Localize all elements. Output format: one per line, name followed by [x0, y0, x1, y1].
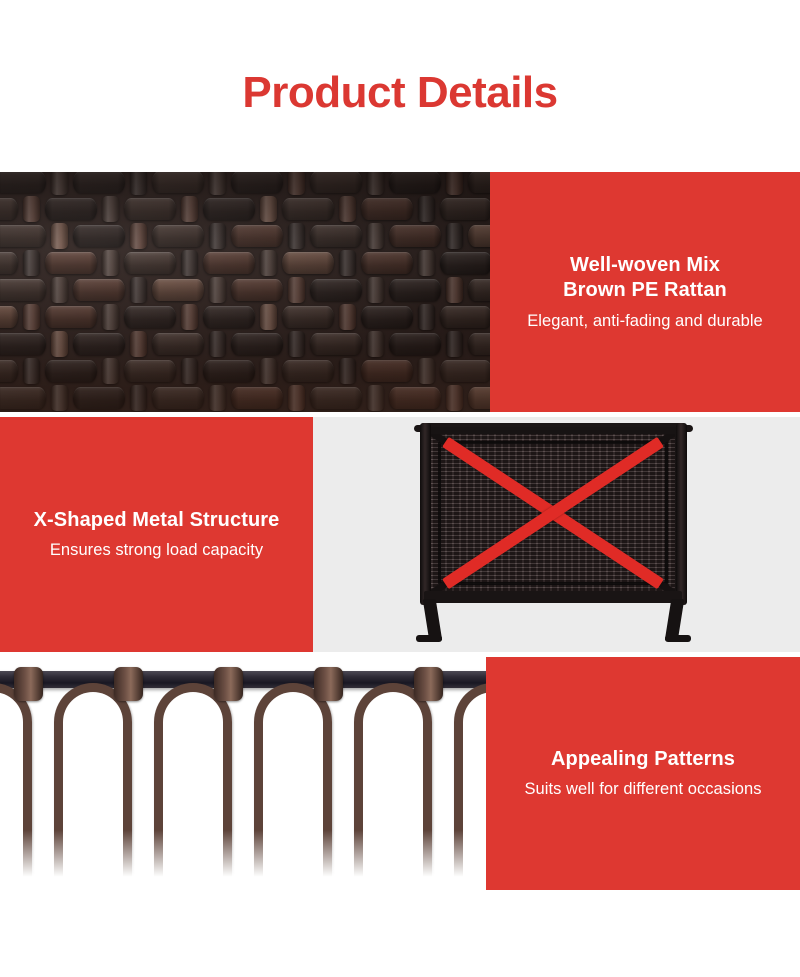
weave-strand — [124, 360, 176, 382]
feature-heading-rattan: Well-woven Mix Brown PE Rattan — [553, 253, 737, 304]
arch-loop — [54, 683, 132, 890]
feature-card-structure: X-Shaped Metal Structure Ensures strong … — [0, 417, 313, 652]
weave-knot — [130, 385, 147, 411]
weave-knot — [209, 385, 226, 411]
feature-heading-line1: Appealing Patterns — [551, 748, 735, 770]
weave-strand — [0, 172, 46, 193]
weave-strand — [203, 360, 255, 382]
arch-loop — [0, 683, 32, 890]
weave-strand — [231, 333, 283, 355]
weave-knot — [102, 196, 119, 222]
weave-knot — [181, 250, 198, 276]
weave-knot — [446, 223, 463, 249]
feature-row-rattan: Well-woven Mix Brown PE Rattan Elegant, … — [0, 172, 800, 412]
weave-knot — [102, 250, 119, 276]
weave-knot — [288, 172, 305, 195]
weave-row — [0, 357, 472, 385]
weave-strand — [152, 279, 204, 301]
weave-strand — [282, 306, 334, 328]
weave-strand — [468, 279, 490, 301]
weave-knot — [418, 358, 435, 384]
weave-strand — [440, 360, 490, 382]
weave-strand — [73, 333, 125, 355]
weave-strand — [440, 306, 490, 328]
title-section: Product Details — [0, 0, 800, 172]
weave-strand — [440, 198, 490, 220]
weave-row — [0, 384, 490, 412]
weave-strand — [231, 387, 283, 409]
weave-strand — [0, 198, 18, 220]
weave-knot — [102, 304, 119, 330]
weave-knot — [339, 304, 356, 330]
weave-strand — [389, 333, 441, 355]
weave-strand — [468, 333, 490, 355]
feature-heading-line2: Brown PE Rattan — [563, 279, 727, 301]
weave-knot — [181, 304, 198, 330]
weave-knot — [209, 277, 226, 303]
weave-knot — [51, 277, 68, 303]
weave-knot — [288, 277, 305, 303]
weave-knot — [288, 385, 305, 411]
weave-strand — [361, 360, 413, 382]
feature-heading-patterns: Appealing Patterns — [541, 747, 745, 773]
arch-loop — [454, 683, 486, 890]
weave-row — [0, 276, 490, 304]
weave-strand — [203, 198, 255, 220]
product-details-infographic: Product Details Well-woven Mix Brown PE … — [0, 0, 800, 977]
weave-knot — [23, 250, 40, 276]
rattan-weave-texture — [0, 172, 490, 412]
weave-knot — [446, 172, 463, 195]
weave-strand — [124, 306, 176, 328]
feature-heading-structure: X-Shaped Metal Structure — [24, 508, 290, 534]
weave-strand — [231, 172, 283, 193]
arch-pattern-graphic — [0, 657, 486, 890]
weave-strand — [0, 225, 46, 247]
rattan-knot-collar — [14, 667, 43, 701]
rattan-knot-collar — [314, 667, 343, 701]
weave-knot — [418, 250, 435, 276]
feature-row-patterns: Appealing Patterns Suits well for differ… — [0, 657, 800, 890]
weave-strand — [203, 306, 255, 328]
feature-subtitle-structure: Ensures strong load capacity — [44, 540, 269, 561]
weave-knot — [23, 358, 40, 384]
feature-card-rattan: Well-woven Mix Brown PE Rattan Elegant, … — [490, 172, 800, 412]
weave-strand — [231, 225, 283, 247]
weave-strand — [310, 387, 362, 409]
weave-strand — [124, 252, 176, 274]
weave-strand — [45, 252, 97, 274]
weave-row — [0, 172, 490, 196]
weave-knot — [367, 385, 384, 411]
weave-knot — [418, 196, 435, 222]
weave-row — [0, 303, 472, 331]
weave-strand — [389, 225, 441, 247]
weave-knot — [51, 172, 68, 195]
weave-knot — [260, 196, 277, 222]
corner-post-right — [676, 423, 687, 605]
weave-strand — [0, 306, 18, 328]
weave-strand — [231, 279, 283, 301]
weave-row — [0, 222, 490, 250]
weave-strand — [389, 279, 441, 301]
rattan-knot-collar — [414, 667, 443, 701]
weave-knot — [260, 358, 277, 384]
weave-knot — [23, 304, 40, 330]
panel-body — [424, 427, 682, 599]
weave-strand — [0, 360, 18, 382]
weave-knot — [367, 223, 384, 249]
rattan-weave-closeup — [0, 172, 490, 412]
weave-knot — [260, 304, 277, 330]
weave-strand — [310, 225, 362, 247]
weave-strand — [45, 360, 97, 382]
weave-strand — [152, 333, 204, 355]
weave-knot — [339, 358, 356, 384]
weave-knot — [418, 304, 435, 330]
weave-strand — [282, 360, 334, 382]
weave-strand — [310, 333, 362, 355]
weave-strand — [124, 198, 176, 220]
page-title: Product Details — [242, 57, 557, 115]
weave-row — [0, 249, 472, 277]
corner-post-left — [420, 423, 431, 605]
weave-strand — [0, 252, 18, 274]
weave-knot — [130, 277, 147, 303]
weave-strand — [468, 225, 490, 247]
weave-strand — [310, 172, 362, 193]
weave-knot — [130, 223, 147, 249]
weave-strand — [0, 387, 46, 409]
weave-strand — [45, 198, 97, 220]
weave-strand — [152, 172, 204, 193]
foot-right — [665, 635, 691, 642]
feature-subtitle-rattan: Elegant, anti-fading and durable — [521, 311, 769, 332]
weave-knot — [51, 331, 68, 357]
weave-knot — [288, 331, 305, 357]
planter-box-x-frame-photo — [313, 417, 800, 652]
weave-strand — [361, 306, 413, 328]
weave-knot — [23, 196, 40, 222]
weave-strand — [468, 172, 490, 193]
arched-rattan-pattern-closeup — [0, 657, 486, 890]
weave-strand — [389, 172, 441, 193]
weave-strand — [73, 387, 125, 409]
weave-knot — [130, 172, 147, 195]
rattan-knot-collar — [214, 667, 243, 701]
weave-knot — [51, 385, 68, 411]
weave-knot — [339, 196, 356, 222]
feature-subtitle-patterns: Suits well for different occasions — [518, 779, 767, 800]
arch-loop — [354, 683, 432, 890]
weave-strand — [152, 225, 204, 247]
weave-strand — [440, 252, 490, 274]
weave-knot — [288, 223, 305, 249]
weave-row — [0, 195, 472, 223]
weave-knot — [446, 331, 463, 357]
weave-row — [0, 330, 490, 358]
weave-knot — [102, 358, 119, 384]
weave-knot — [367, 172, 384, 195]
weave-strand — [152, 387, 204, 409]
rattan-knot-collar — [114, 667, 143, 701]
weave-strand — [45, 306, 97, 328]
weave-knot — [367, 331, 384, 357]
arch-loop — [254, 683, 332, 890]
feature-heading-line1: Well-woven Mix — [570, 254, 720, 276]
arch-loop — [154, 683, 232, 890]
weave-knot — [209, 172, 226, 195]
weave-strand — [282, 198, 334, 220]
weave-strand — [73, 279, 125, 301]
weave-strand — [389, 387, 441, 409]
weave-knot — [446, 385, 463, 411]
weave-knot — [181, 358, 198, 384]
weave-knot — [260, 250, 277, 276]
weave-knot — [209, 223, 226, 249]
weave-strand — [361, 252, 413, 274]
weave-strand — [0, 279, 46, 301]
weave-knot — [339, 250, 356, 276]
weave-strand — [203, 252, 255, 274]
weave-knot — [130, 331, 147, 357]
weave-strand — [0, 333, 46, 355]
weave-strand — [73, 225, 125, 247]
feature-heading-line1: X-Shaped Metal Structure — [34, 509, 280, 531]
weave-knot — [51, 223, 68, 249]
weave-knot — [446, 277, 463, 303]
weave-strand — [73, 172, 125, 193]
feature-card-patterns: Appealing Patterns Suits well for differ… — [486, 657, 800, 890]
weave-knot — [367, 277, 384, 303]
weave-strand — [468, 387, 490, 409]
bottom-rail — [424, 591, 682, 603]
weave-strand — [310, 279, 362, 301]
weave-strand — [282, 252, 334, 274]
planter-box-illustration — [410, 423, 700, 645]
foot-left — [416, 635, 442, 642]
feature-row-structure: X-Shaped Metal Structure Ensures strong … — [0, 417, 800, 652]
weave-knot — [181, 196, 198, 222]
weave-strand — [361, 198, 413, 220]
weave-knot — [209, 331, 226, 357]
